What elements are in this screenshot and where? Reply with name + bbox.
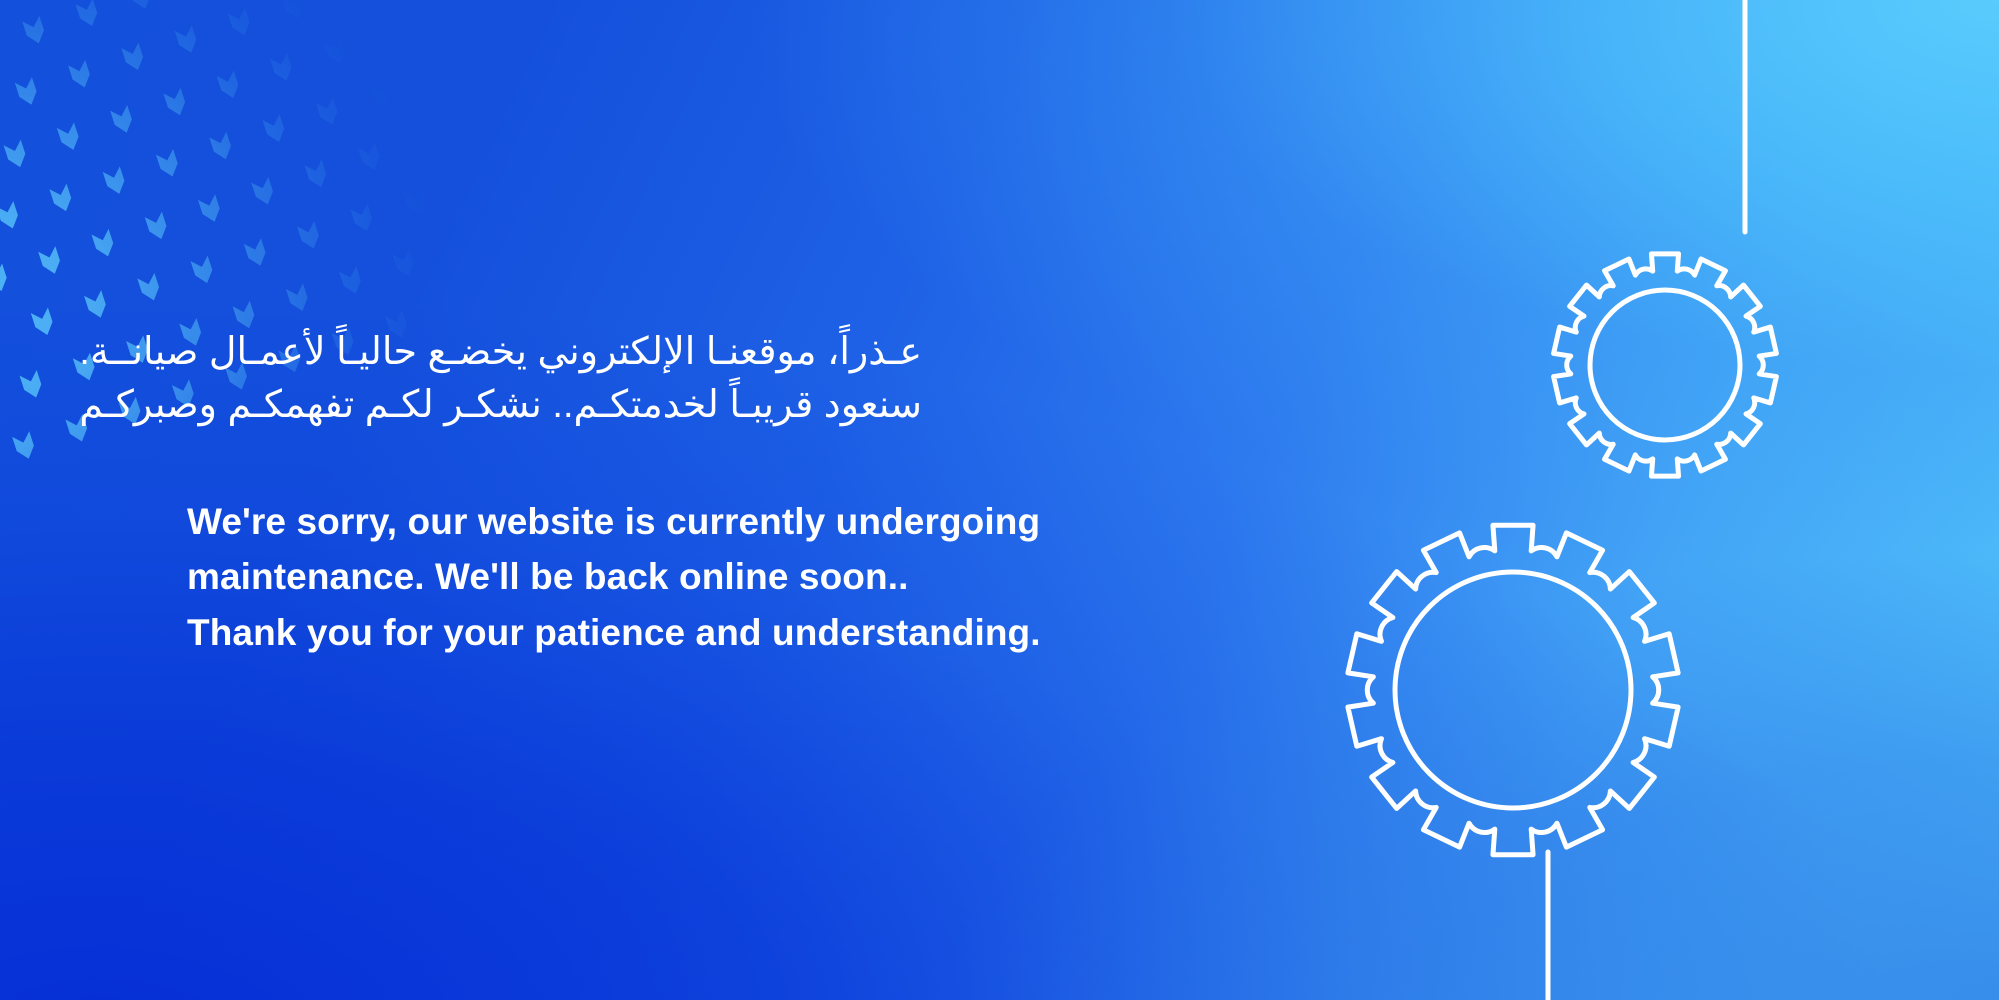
english-line-2: maintenance. We'll be back online soon.. [187, 549, 1187, 605]
arabic-message: عـذراً، موقعنـا الإلكتروني يخضـع حاليـاً… [187, 330, 922, 428]
english-message: We're sorry, our website is currently un… [187, 494, 1187, 661]
arabic-line-2: سنعود قريبـاً لخدمتكـم.. نشكـر لكـم تفهم… [187, 383, 922, 428]
english-line-1: We're sorry, our website is currently un… [187, 494, 1187, 550]
arabic-line-1: عـذراً، موقعنـا الإلكتروني يخضـع حاليـاً… [187, 330, 922, 375]
message-block: عـذراً، موقعنـا الإلكتروني يخضـع حاليـاً… [187, 330, 1187, 660]
english-line-3: Thank you for your patience and understa… [187, 605, 1187, 661]
maintenance-page: عـذراً، موقعنـا الإلكتروني يخضـع حاليـاً… [0, 0, 1999, 1000]
